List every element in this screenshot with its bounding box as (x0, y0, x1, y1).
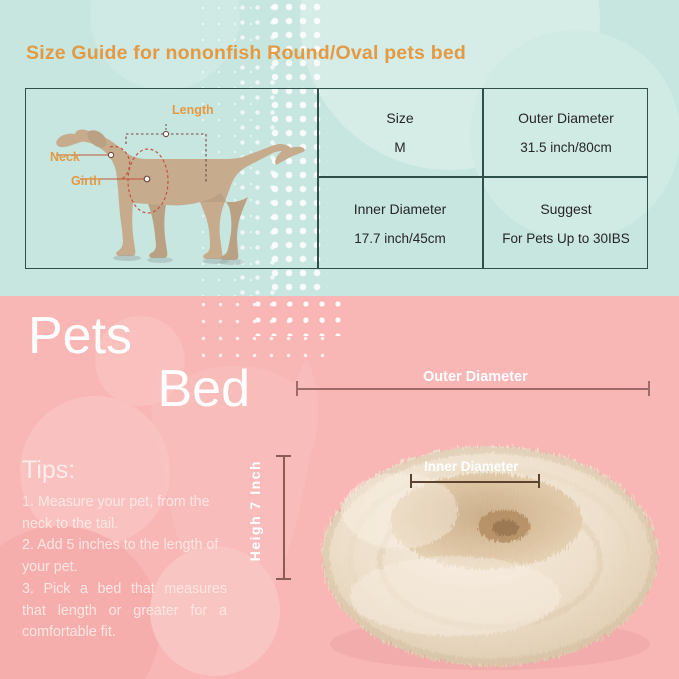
table-value: 31.5 inch/80cm (520, 140, 612, 155)
table-header: Outer Diameter (518, 110, 614, 126)
outer-diameter-label: Outer Diameter (423, 369, 528, 385)
outer-diameter-rule (296, 388, 650, 390)
outer-diameter-rule-cap-right (648, 381, 650, 396)
table-value: M (394, 140, 405, 155)
inner-diameter-rule-cap-right (538, 474, 540, 488)
tip-item: 3. Pick a bed that measures that length … (22, 579, 227, 644)
height-rule-cap-bottom (276, 578, 291, 580)
table-header: Suggest (540, 201, 591, 217)
product-title-line1: Pets (28, 310, 268, 363)
product-title: Pets Bed (28, 310, 268, 416)
table-cell-suggest: Suggest For Pets Up to 30IBS (484, 178, 648, 268)
table-value: 17.7 inch/45cm (354, 231, 446, 246)
table-cell-outer-diameter: Outer Diameter 31.5 inch/80cm (484, 89, 648, 176)
tips-heading: Tips: (22, 456, 75, 485)
table-cell-inner-diameter: Inner Diameter 17.7 inch/45cm (318, 178, 482, 268)
height-label: Heigh 7 Inch (247, 460, 263, 561)
pet-bed-illustration (290, 406, 670, 679)
product-title-line2: Bed (28, 363, 268, 416)
product-hero-section: Pets Bed Tips: 1. Measure your pet, from… (0, 296, 679, 679)
tip-item: 2. Add 5 inches to the length of your pe… (22, 535, 227, 578)
table-header: Size (386, 110, 413, 126)
table-header: Inner Diameter (354, 201, 447, 217)
table-cell-size: Size M (318, 89, 482, 176)
tip-item: 1. Measure your pet, from the neck to th… (22, 492, 227, 535)
inner-diameter-label: Inner Diameter (424, 459, 519, 474)
inner-diameter-rule (410, 481, 540, 483)
inner-diameter-rule-cap-left (410, 474, 412, 488)
table-value: For Pets Up to 30IBS (502, 231, 630, 246)
height-rule-cap-top (276, 455, 291, 457)
outer-diameter-rule-cap-left (296, 381, 298, 396)
infographic-page: Size Guide for nononfish Round/Oval pets… (0, 0, 679, 679)
page-title: Size Guide for nononfish Round/Oval pets… (26, 42, 466, 65)
tips-list: 1. Measure your pet, from the neck to th… (22, 492, 227, 644)
pet-bed-photo (290, 406, 670, 679)
height-rule (283, 455, 285, 580)
